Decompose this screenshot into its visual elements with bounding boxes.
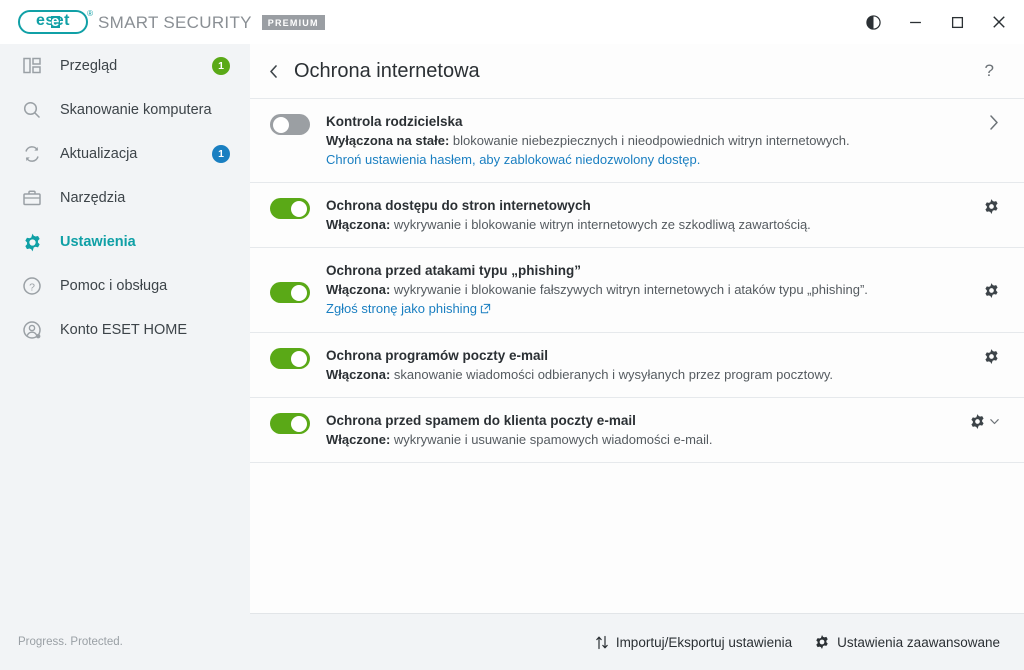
row-desc-text: wykrywanie i usuwanie spamowych wiadomoś… bbox=[390, 432, 712, 447]
maximize-button[interactable] bbox=[936, 4, 978, 40]
status-badge: 1 bbox=[212, 57, 230, 75]
help-icon: ? bbox=[20, 274, 44, 298]
toggle-anti-phishing-protection[interactable] bbox=[270, 282, 310, 303]
status-badge: 1 bbox=[212, 145, 230, 163]
minimize-icon bbox=[909, 16, 922, 29]
maximize-icon bbox=[951, 16, 964, 29]
close-icon bbox=[992, 15, 1006, 29]
edition-badge: PREMIUM bbox=[262, 15, 325, 30]
row-description: Włączona: wykrywanie i blokowanie witryn… bbox=[326, 215, 969, 234]
row-desc-text: blokowanie niebezpiecznych i nieodpowied… bbox=[449, 133, 849, 148]
row-state-text: Włączona: bbox=[326, 282, 390, 297]
toolbox-icon bbox=[20, 186, 44, 210]
import-export-settings-button[interactable]: Importuj/Eksportuj ustawienia bbox=[595, 635, 792, 650]
row-state-text: Wyłączona na stałe: bbox=[326, 133, 449, 148]
toggle-antispam-protection[interactable] bbox=[270, 413, 310, 434]
chevron-left-icon bbox=[268, 65, 279, 78]
sidebar-item-label: Przegląd bbox=[60, 58, 194, 74]
report-phishing-link[interactable]: Zgłoś stronę jako phishing bbox=[326, 301, 477, 316]
footer-actions: Importuj/Eksportuj ustawienia Ustawienia… bbox=[250, 634, 1024, 650]
row-title: Ochrona dostępu do stron internetowych bbox=[326, 196, 969, 215]
account-icon bbox=[20, 318, 44, 342]
row-desc-text: skanowanie wiadomości odbieranych i wysy… bbox=[390, 367, 833, 382]
row-body: Ochrona przed spamem do klienta poczty e… bbox=[326, 411, 955, 449]
row-desc-text: wykrywanie i blokowanie fałszywych witry… bbox=[390, 282, 868, 297]
chevron-right-icon bbox=[987, 114, 1000, 131]
row-body: Ochrona przed atakami typu „phishing” Wł… bbox=[326, 261, 969, 319]
window-controls bbox=[852, 0, 1024, 44]
anti-phishing-settings-button[interactable] bbox=[983, 261, 1000, 299]
toggle-knob bbox=[291, 416, 307, 432]
dashboard-icon bbox=[20, 54, 44, 78]
settings-row-web-access-protection: Ochrona dostępu do stron internetowych W… bbox=[250, 183, 1024, 248]
sidebar-item-label: Ustawienia bbox=[60, 234, 232, 250]
eset-logo-mark: eset e ® bbox=[18, 10, 88, 34]
eset-logo-accent-letter: e bbox=[51, 14, 59, 29]
back-button[interactable] bbox=[260, 58, 286, 84]
sidebar-navigation: Przegląd 1 Skanowanie komputera bbox=[0, 44, 250, 670]
antispam-settings-dropdown-button[interactable] bbox=[969, 411, 1000, 430]
contrast-icon bbox=[866, 15, 881, 30]
settings-row-anti-phishing-protection: Ochrona przed atakami typu „phishing” Wł… bbox=[250, 248, 1024, 333]
sidebar-item-label: Skanowanie komputera bbox=[60, 102, 232, 118]
settings-rows: Kontrola rodzicielska Wyłączona na stałe… bbox=[250, 98, 1024, 463]
sidebar-item-przeglad[interactable]: Przegląd 1 bbox=[0, 44, 250, 88]
row-link-line: Zgłoś stronę jako phishing bbox=[326, 299, 969, 319]
row-desc-text: wykrywanie i blokowanie witryn interneto… bbox=[390, 217, 811, 232]
external-link-icon bbox=[480, 300, 491, 319]
toggle-knob bbox=[291, 285, 307, 301]
row-title: Ochrona przed spamem do klienta poczty e… bbox=[326, 411, 955, 430]
import-export-icon bbox=[595, 635, 609, 650]
eset-main-window: eset e ® SMART SECURITY PREMIUM bbox=[0, 0, 1024, 670]
search-icon bbox=[20, 98, 44, 122]
sidebar-item-narzedzia[interactable]: Narzędzia bbox=[0, 176, 250, 220]
advanced-setup-button[interactable]: Ustawienia zaawansowane bbox=[814, 634, 1000, 650]
row-title: Kontrola rodzicielska bbox=[326, 112, 973, 131]
row-description: Włączona: skanowanie wiadomości odbieran… bbox=[326, 365, 969, 384]
chevron-down-icon bbox=[989, 416, 1000, 427]
sidebar-item-konto-eset-home[interactable]: Konto ESET HOME bbox=[0, 308, 250, 352]
sidebar-badge-wrap: 1 bbox=[210, 55, 232, 77]
row-body: Kontrola rodzicielska Wyłączona na stałe… bbox=[326, 112, 973, 169]
row-title: Ochrona przed atakami typu „phishing” bbox=[326, 261, 969, 280]
toggle-knob bbox=[291, 201, 307, 217]
product-name: SMART SECURITY bbox=[98, 13, 252, 33]
password-protect-link[interactable]: Chroń ustawienia hasłem bbox=[326, 152, 472, 167]
sidebar-item-pomoc-i-obsluga[interactable]: ? Pomoc i obsługa bbox=[0, 264, 250, 308]
refresh-icon bbox=[20, 142, 44, 166]
footer-bar: Progress. Protected. Importuj/Eksportuj … bbox=[0, 614, 1024, 670]
registered-trademark-icon: ® bbox=[87, 9, 93, 18]
gear-icon bbox=[983, 282, 1000, 299]
row-description: Włączona: wykrywanie i blokowanie fałszy… bbox=[326, 280, 969, 299]
toggle-web-access-protection[interactable] bbox=[270, 198, 310, 219]
row-body: Ochrona dostępu do stron internetowych W… bbox=[326, 196, 969, 234]
toggle-knob bbox=[291, 351, 307, 367]
brand-logo: eset e ® SMART SECURITY PREMIUM bbox=[0, 10, 325, 34]
sidebar-item-skanowanie-komputera[interactable]: Skanowanie komputera bbox=[0, 88, 250, 132]
footer-status-text: Progress. Protected. bbox=[0, 636, 250, 648]
row-state-text: Włączona: bbox=[326, 367, 390, 382]
gear-icon bbox=[983, 348, 1000, 365]
row-body: Ochrona programów poczty e-mail Włączona… bbox=[326, 346, 969, 384]
import-export-label: Importuj/Eksportuj ustawienia bbox=[616, 635, 792, 650]
gear-icon bbox=[20, 230, 44, 254]
row-state-text: Włączone: bbox=[326, 432, 390, 447]
main-content: Ochrona internetowa ? Kontrola rodziciel… bbox=[250, 44, 1024, 670]
sidebar-item-label: Aktualizacja bbox=[60, 146, 194, 162]
gear-icon bbox=[814, 634, 830, 650]
help-button[interactable]: ? bbox=[979, 57, 1000, 85]
row-link-suffix: , aby zablokować niedozwolony dostęp. bbox=[472, 152, 700, 167]
gear-icon bbox=[969, 413, 986, 430]
toggle-knob bbox=[273, 117, 289, 133]
sidebar-item-label: Pomoc i obsługa bbox=[60, 278, 232, 294]
sidebar-badge-wrap: 1 bbox=[210, 143, 232, 165]
title-bar: eset e ® SMART SECURITY PREMIUM bbox=[0, 0, 1024, 44]
svg-text:?: ? bbox=[29, 281, 35, 293]
gear-icon bbox=[983, 198, 1000, 215]
close-button[interactable] bbox=[978, 4, 1020, 40]
row-title: Ochrona programów poczty e-mail bbox=[326, 346, 969, 365]
sidebar-item-label: Narzędzia bbox=[60, 190, 232, 206]
sidebar-item-label: Konto ESET HOME bbox=[60, 322, 232, 338]
email-client-settings-button[interactable] bbox=[983, 346, 1000, 365]
settings-row-email-client-protection: Ochrona programów poczty e-mail Włączona… bbox=[250, 333, 1024, 398]
row-description: Włączone: wykrywanie i usuwanie spamowyc… bbox=[326, 430, 955, 449]
sidebar-item-aktualizacja[interactable]: Aktualizacja 1 bbox=[0, 132, 250, 176]
parental-control-open-button[interactable] bbox=[987, 112, 1000, 131]
page-header: Ochrona internetowa ? bbox=[250, 44, 1024, 98]
minimize-button[interactable] bbox=[894, 4, 936, 40]
toggle-parental-control[interactable] bbox=[270, 114, 310, 135]
row-description: Wyłączona na stałe: blokowanie niebezpie… bbox=[326, 131, 973, 150]
theme-contrast-toggle-button[interactable] bbox=[852, 4, 894, 40]
row-link-line: Chroń ustawienia hasłem, aby zablokować … bbox=[326, 150, 973, 169]
page-title: Ochrona internetowa bbox=[294, 60, 979, 83]
sidebar-item-ustawienia[interactable]: Ustawienia bbox=[0, 220, 250, 264]
advanced-setup-label: Ustawienia zaawansowane bbox=[837, 635, 1000, 650]
settings-row-parental-control: Kontrola rodzicielska Wyłączona na stałe… bbox=[250, 98, 1024, 183]
settings-row-antispam-protection: Ochrona przed spamem do klienta poczty e… bbox=[250, 398, 1024, 463]
row-state-text: Włączona: bbox=[326, 217, 390, 232]
web-access-settings-button[interactable] bbox=[983, 196, 1000, 215]
toggle-email-client-protection[interactable] bbox=[270, 348, 310, 369]
